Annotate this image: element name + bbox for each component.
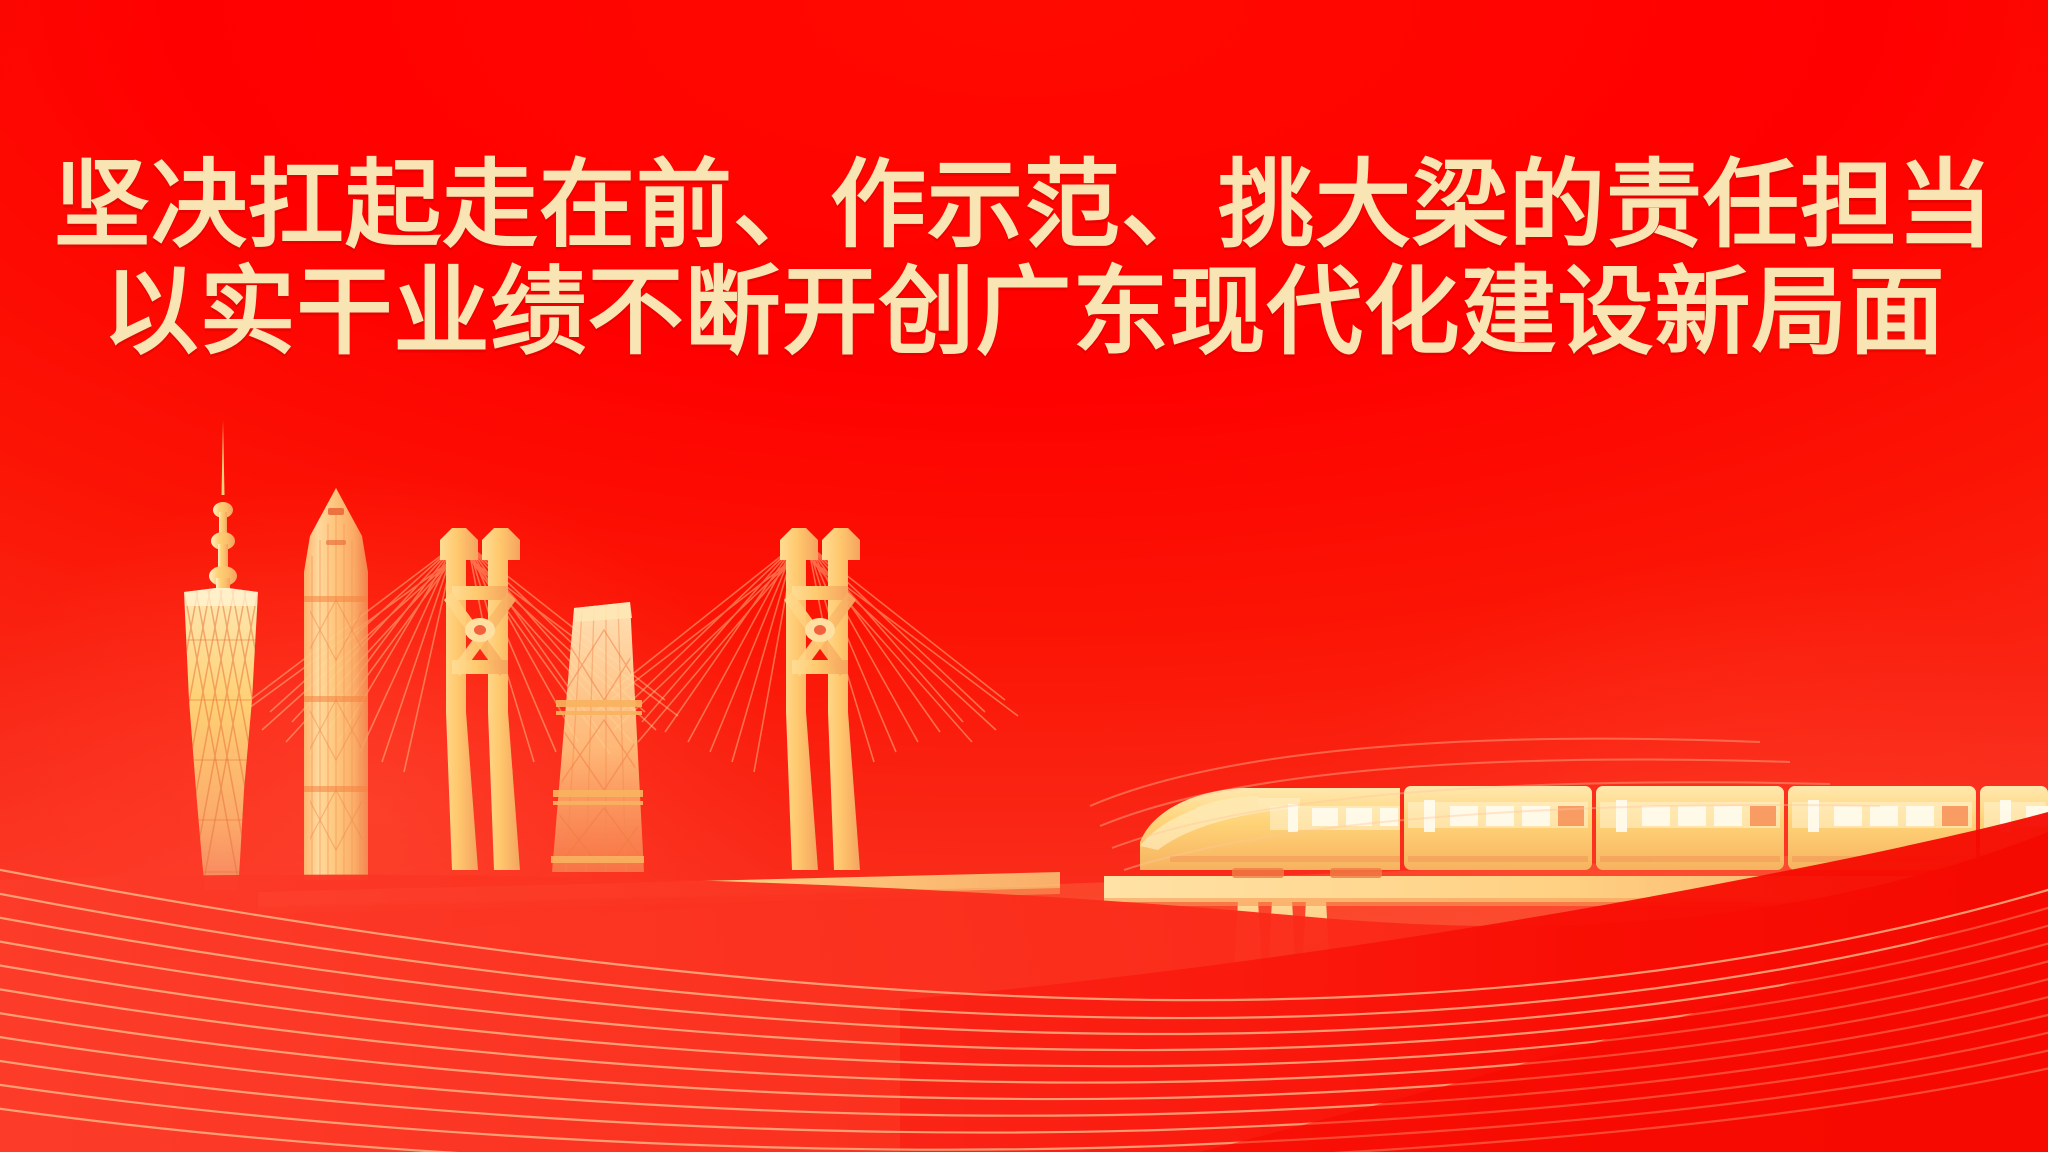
viaduct [1232, 900, 1332, 1010]
cable-stay-bridge-right [780, 528, 860, 870]
poster-canvas: 坚决扛起走在前、作示范、挑大梁的责任担当 以实干业绩不断开创广东现代化建设新局面 [0, 0, 2048, 1152]
ctf-finance-centre [551, 602, 652, 872]
skyline-illustration [0, 0, 2048, 1152]
ping-an-tower [304, 488, 368, 880]
canton-tower [142, 420, 300, 890]
cable-stay-bridge-left [440, 528, 520, 870]
